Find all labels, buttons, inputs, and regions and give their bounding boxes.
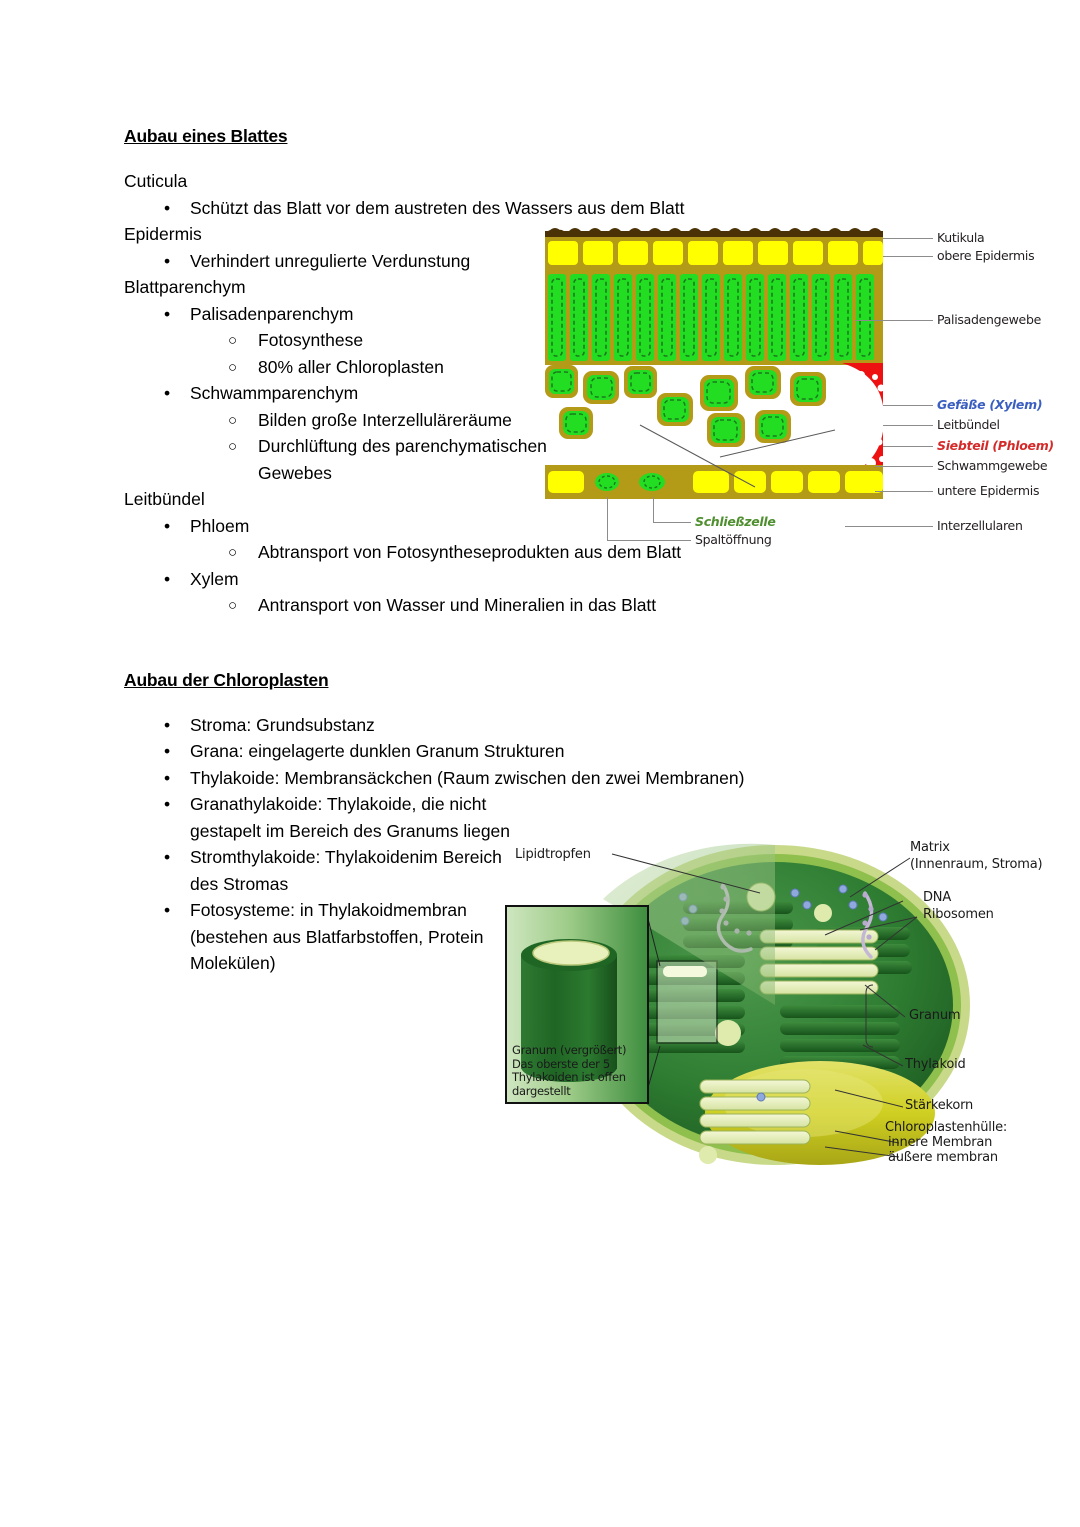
leader-schwammgewebe xyxy=(875,466,933,467)
label-aeussere-membran: äußere membran xyxy=(888,1150,998,1165)
leader-palisadengewebe xyxy=(855,320,933,321)
open-thylakoid-lumen xyxy=(533,941,609,965)
bullet-circle-icon: ○ xyxy=(228,354,237,381)
bullet-dot-icon: • xyxy=(164,566,170,593)
bullet-dot-icon: • xyxy=(164,195,170,222)
granum-inset-box: Granum (vergrößert) Das oberste der 5 Th… xyxy=(505,905,649,1104)
leader-interzellularen xyxy=(845,526,933,527)
chloroplast-figure: Granum (vergrößert) Das oberste der 5 Th… xyxy=(505,835,1080,1185)
list-item: • Grana: eingelagerte dunklen Granum Str… xyxy=(124,738,924,765)
label-interzellularen: Interzellularen xyxy=(937,518,1023,533)
label-gefaesse-xylem: Gefäße (Xylem) xyxy=(937,397,1042,412)
section-heading-leaf-structure: Aubau eines Blattes xyxy=(124,126,924,147)
list-item-label: Grana: eingelagerte dunklen Granum Struk… xyxy=(190,741,565,761)
list-item-label: Fotosysteme: in Thylakoidmembran (besteh… xyxy=(190,897,520,977)
bullet-circle-icon: ○ xyxy=(228,407,237,434)
list-item-label: 80% aller Chloroplasten xyxy=(258,357,444,377)
label-matrix-line1: Matrix xyxy=(910,840,950,855)
bullet-dot-icon: • xyxy=(164,301,170,328)
bullet-circle-icon: ○ xyxy=(228,539,237,566)
list-item: ○ Antransport von Wasser und Mineralien … xyxy=(190,592,924,619)
caption-line-3: Thylakoiden ist offen xyxy=(512,1071,626,1085)
document-page: Aubau eines Blattes Cuticula • Schützt d… xyxy=(0,0,1080,1527)
leader-siebteil xyxy=(883,446,933,447)
label-lipidtropfen: Lipidtropfen xyxy=(515,847,591,862)
leader-kutikula xyxy=(883,238,933,239)
label-untere-epidermis: untere Epidermis xyxy=(937,483,1039,498)
label-matrix-line2: (Innenraum, Stroma) xyxy=(910,857,1042,872)
list-item-label: Durchlüftung des parenchymatischen Geweb… xyxy=(258,433,588,486)
list-item: • Schützt das Blatt vor dem austreten de… xyxy=(124,195,924,222)
label-thylakoid: Thylakoid xyxy=(905,1057,966,1072)
list-item-label: Thylakoide: Membransäckchen (Raum zwisch… xyxy=(190,768,744,788)
leader-gefaesse xyxy=(883,405,933,406)
list-item-label: Fotosynthese xyxy=(258,330,363,350)
list-item-label: Granathylakoide: Thylakoide, die nicht g… xyxy=(190,791,520,844)
list-item-label: Verhindert unregulierte Verdunstung xyxy=(190,251,470,271)
list-item: • Thylakoide: Membransäckchen (Raum zwis… xyxy=(124,765,924,792)
vascular-bundle xyxy=(840,360,883,480)
list-item-label: Schwammparenchym xyxy=(190,383,358,403)
label-granum: Granum xyxy=(909,1008,960,1023)
list-item-label: Schützt das Blatt vor dem austreten des … xyxy=(190,198,684,218)
leader-spaltoeffnung-vertical xyxy=(607,497,608,541)
leader-spaltoeffnung xyxy=(607,540,691,541)
spongy-mesophyll-layer xyxy=(545,365,826,447)
bullet-circle-icon: ○ xyxy=(228,327,237,354)
bullet-list-cuticula: • Schützt das Blatt vor dem austreten de… xyxy=(124,195,924,222)
list-item: • Stroma: Grundsubstanz xyxy=(124,712,924,739)
section-spacer xyxy=(124,619,924,670)
leader-schliesszelle-vertical xyxy=(653,497,654,523)
label-schliesszelle: Schließzelle xyxy=(695,514,776,529)
list-item-label: Xylem xyxy=(190,569,239,589)
bullet-dot-icon: • xyxy=(164,513,170,540)
bullet-dot-icon: • xyxy=(164,844,170,871)
granum-inset-caption: Granum (vergrößert) Das oberste der 5 Th… xyxy=(512,1044,626,1098)
term-cuticula: Cuticula xyxy=(124,168,924,195)
upper-epidermis-layer xyxy=(545,237,883,271)
bullet-dot-icon: • xyxy=(164,248,170,275)
list-item-label: Stroma: Grundsubstanz xyxy=(190,715,375,735)
bullet-dot-icon: • xyxy=(164,380,170,407)
label-siebteil-phloem: Siebteil (Phloem) xyxy=(937,438,1054,453)
list-item-label: Stromthylakoide: Thylakoidenim Bereich d… xyxy=(190,844,520,897)
bullet-dot-icon: • xyxy=(164,791,170,818)
label-staerkekorn: Stärkekorn xyxy=(905,1098,973,1113)
label-spaltoeffnung: Spaltöffnung xyxy=(695,532,771,547)
label-obere-epidermis: obere Epidermis xyxy=(937,248,1034,263)
leader-schliesszelle xyxy=(653,522,691,523)
leader-untere-epidermis xyxy=(875,491,933,492)
label-palisadengewebe: Palisadengewebe xyxy=(937,312,1041,327)
label-schwammgewebe: Schwammgewebe xyxy=(937,458,1047,473)
bullet-dot-icon: • xyxy=(164,897,170,924)
palisade-parenchyma-layer xyxy=(545,270,883,365)
section-heading-chloroplast-structure: Aubau der Chloroplasten xyxy=(124,670,924,691)
sub-bullet-list: ○ Antransport von Wasser und Mineralien … xyxy=(190,592,924,619)
list-item-label: Palisadenparenchym xyxy=(190,304,353,324)
lower-epidermis-layer xyxy=(545,465,883,499)
label-leitbuendel: Leitbündel xyxy=(937,417,1000,432)
list-item-label: Antransport von Wasser und Mineralien in… xyxy=(258,595,656,615)
bullet-dot-icon: • xyxy=(164,765,170,792)
leaf-cross-section-illustration xyxy=(545,225,883,505)
list-item: • Xylem ○ Antransport von Wasser und Min… xyxy=(124,566,924,619)
leaf-cross-section-figure: Kutikula obere Epidermis Palisadengewebe… xyxy=(545,225,1080,565)
label-innere-membran: innere Membran xyxy=(888,1135,992,1150)
list-item-label: Bilden große Interzelluläreräume xyxy=(258,407,588,434)
bullet-dot-icon: • xyxy=(164,738,170,765)
caption-line-2: Das oberste der 5 xyxy=(512,1058,626,1072)
leader-leitbuendel xyxy=(883,425,933,426)
bullet-dot-icon: • xyxy=(164,712,170,739)
list-item-label: Phloem xyxy=(190,516,249,536)
leader-obere-epidermis xyxy=(883,256,933,257)
caption-line-1: Granum (vergrößert) xyxy=(512,1044,626,1058)
label-kutikula: Kutikula xyxy=(937,230,984,245)
caption-line-4: dargestellt xyxy=(512,1085,626,1099)
bullet-circle-icon: ○ xyxy=(228,592,237,619)
bullet-circle-icon: ○ xyxy=(228,433,237,460)
label-ribosomen: Ribosomen xyxy=(923,907,994,922)
label-chloroplastenhuelle: Chloroplastenhülle: xyxy=(885,1120,1007,1135)
label-dna: DNA xyxy=(923,890,951,905)
